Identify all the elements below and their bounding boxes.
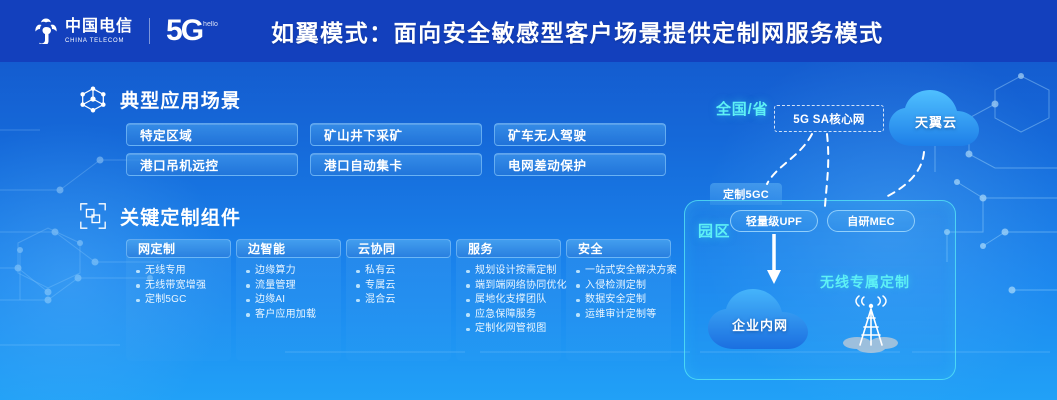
component-item: 流量管理	[245, 279, 341, 294]
scenario-box[interactable]: 矿山井下采矿	[310, 123, 482, 146]
scenario-grid: 特定区域 矿山井下采矿 矿车无人驾驶 港口吊机远控 港口自动集卡 电网差动保护	[126, 123, 666, 176]
wireless-dedicated-label: 无线专属定制	[820, 272, 910, 292]
component-item-list: 一站式安全解决方案 入侵检测定制 数据安全定制 运维审计定制等	[566, 264, 671, 322]
component-item-list: 私有云 专属云 混合云	[346, 264, 451, 308]
component-item: 定制5GC	[135, 293, 231, 308]
park-label: 园区	[698, 220, 731, 241]
component-item-list: 规划设计按需定制 端到端网络协同优化 属地化支撑团队 应急保障服务 定制化网管视…	[456, 264, 561, 337]
scenario-box[interactable]: 矿车无人驾驶	[494, 123, 666, 146]
component-item: 入侵检测定制	[575, 279, 671, 294]
brand-text: 中国电信 CHINA TELECOM	[65, 19, 133, 44]
component-column: 服务 规划设计按需定制 端到端网络协同优化 属地化支撑团队 应急保障服务 定制化…	[456, 239, 561, 361]
fiveg-logo: 5G hello	[166, 17, 218, 45]
component-column-header: 服务	[456, 239, 561, 258]
component-column: 云协同 私有云 专属云 混合云	[346, 239, 451, 361]
components-title: 关键定制组件	[120, 203, 241, 230]
component-item: 混合云	[355, 293, 451, 308]
cell-tower-icon	[840, 295, 902, 353]
components-section-header: 关键定制组件	[78, 201, 680, 231]
component-item: 无线带宽增强	[135, 279, 231, 294]
logo-divider	[149, 18, 150, 44]
network-node-icon	[78, 84, 108, 114]
component-item: 边缘算力	[245, 264, 341, 279]
page-header: 中国电信 CHINA TELECOM 5G hello 如翼模式：面向安全敏感型…	[0, 0, 1057, 62]
scenario-box[interactable]: 特定区域	[126, 123, 298, 146]
enterprise-intranet-cloud[interactable]: 企业内网	[706, 287, 814, 353]
component-item: 应急保障服务	[465, 308, 561, 323]
enterprise-intranet-label: 企业内网	[706, 315, 814, 334]
scenario-box[interactable]: 港口吊机远控	[126, 153, 298, 176]
component-item: 运维审计定制等	[575, 308, 671, 323]
component-column: 边智能 边缘算力 流量管理 边缘AI 客户应用加载	[236, 239, 341, 361]
component-item: 定制化网管视图	[465, 322, 561, 337]
brand-name-cn: 中国电信	[65, 19, 133, 35]
component-item: 属地化支撑团队	[465, 293, 561, 308]
brand-name-en: CHINA TELECOM	[65, 38, 133, 44]
component-item-list: 无线专用 无线带宽增强 定制5GC	[126, 264, 231, 308]
downward-arrow-icon	[764, 234, 784, 286]
custom-5gc-tag[interactable]: 定制5GC	[710, 183, 782, 205]
page-title: 如翼模式：面向安全敏感型客户场景提供定制网服务模式	[218, 14, 1057, 48]
component-item: 私有云	[355, 264, 451, 279]
component-item: 无线专用	[135, 264, 231, 279]
tianyi-cloud[interactable]: 天翼云	[887, 88, 985, 150]
components-grid: 网定制 无线专用 无线带宽增强 定制5GC 边智能 边缘算力 流量管理 边缘AI…	[126, 239, 671, 361]
scenario-box[interactable]: 电网差动保护	[494, 153, 666, 176]
component-item: 数据安全定制	[575, 293, 671, 308]
component-column-header: 网定制	[126, 239, 231, 258]
china-telecom-wing-logo-icon	[34, 18, 58, 44]
scenarios-section-header: 典型应用场景	[78, 84, 680, 114]
component-column-header: 安全	[566, 239, 671, 258]
component-column: 网定制 无线专用 无线带宽增强 定制5GC	[126, 239, 231, 361]
component-item: 一站式安全解决方案	[575, 264, 671, 279]
lightweight-upf-pill[interactable]: 轻量级UPF	[730, 210, 818, 232]
core-network-box[interactable]: 5G SA核心网	[774, 105, 884, 132]
left-content-area: 典型应用场景 特定区域 矿山井下采矿 矿车无人驾驶 港口吊机远控 港口自动集卡 …	[0, 62, 680, 400]
tianyi-cloud-label: 天翼云	[887, 112, 985, 131]
component-item: 专属云	[355, 279, 451, 294]
component-item: 边缘AI	[245, 293, 341, 308]
component-item: 客户应用加载	[245, 308, 341, 323]
slide-root: 中国电信 CHINA TELECOM 5G hello 如翼模式：面向安全敏感型…	[0, 0, 1057, 400]
architecture-diagram: 全国/省 5G SA核心网 天翼云 定制5GC 园区 轻量级UPF 自研MEC	[672, 62, 1057, 400]
component-item: 规划设计按需定制	[465, 264, 561, 279]
fiveg-hello-text: hello	[203, 21, 218, 28]
component-column-header: 边智能	[236, 239, 341, 258]
national-province-label: 全国/省	[716, 98, 768, 119]
fiveg-number: 5G	[166, 17, 202, 45]
component-column: 安全 一站式安全解决方案 入侵检测定制 数据安全定制 运维审计定制等	[566, 239, 671, 361]
self-developed-mec-pill[interactable]: 自研MEC	[827, 210, 915, 232]
component-item-list: 边缘算力 流量管理 边缘AI 客户应用加载	[236, 264, 341, 322]
component-column-header: 云协同	[346, 239, 451, 258]
component-item: 端到端网络协同优化	[465, 279, 561, 294]
brand-logo-block: 中国电信 CHINA TELECOM 5G hello	[0, 17, 218, 45]
scenarios-title: 典型应用场景	[120, 86, 241, 113]
scenario-box[interactable]: 港口自动集卡	[310, 153, 482, 176]
module-bracket-icon	[78, 201, 108, 231]
